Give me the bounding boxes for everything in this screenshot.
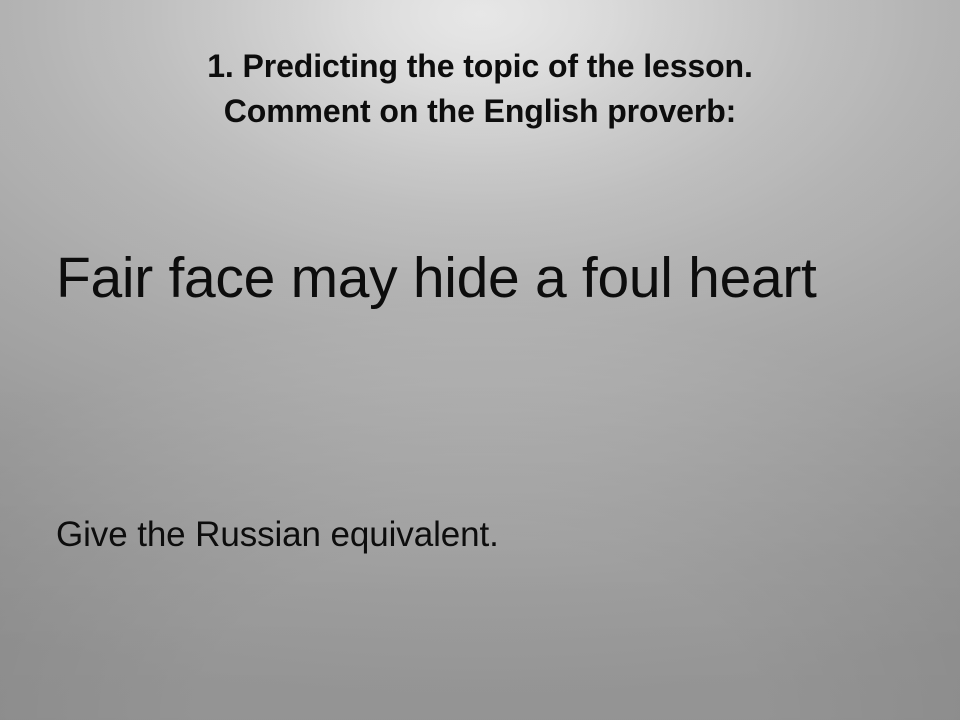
slide-title-line-2: Comment on the English proverb: xyxy=(0,89,960,134)
proverb-text: Fair face may hide a foul heart xyxy=(56,246,916,310)
presentation-slide: 1. Predicting the topic of the lesson. C… xyxy=(0,0,960,720)
slide-content: 1. Predicting the topic of the lesson. C… xyxy=(0,0,960,720)
slide-title-block: 1. Predicting the topic of the lesson. C… xyxy=(0,44,960,134)
instruction-text: Give the Russian equivalent. xyxy=(56,513,916,557)
slide-title-line-1: 1. Predicting the topic of the lesson. xyxy=(0,44,960,89)
